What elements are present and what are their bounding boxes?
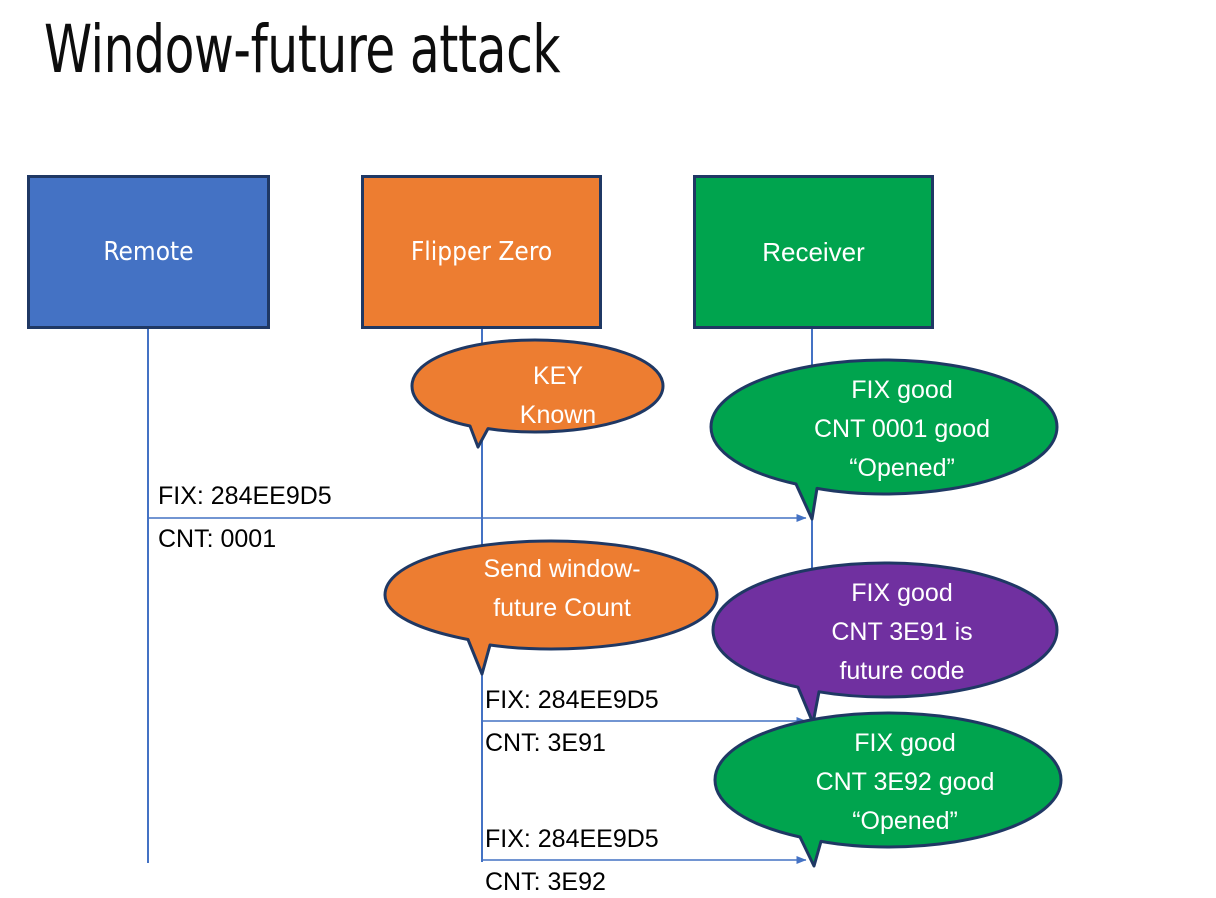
callout-fix-good-3e92[interactable]: FIX good CNT 3E92 good “Opened” (712, 710, 1064, 876)
callout-fix-good-3e91-future-shape (710, 560, 1060, 728)
callout-key-known[interactable]: KEY Known (408, 337, 670, 457)
callout-send-window-future-count-shape (382, 538, 720, 678)
callout-fix-good-3e91-future[interactable]: FIX good CNT 3E91 is future code (710, 560, 1060, 728)
actor-label-remote: Remote (103, 237, 193, 267)
message-1-label-below: CNT: 0001 (158, 524, 276, 554)
message-1-label-above: FIX: 284EE9D5 (158, 481, 332, 511)
message-3-label-below: CNT: 3E92 (485, 867, 606, 897)
slide-canvas: Window-future attack R (0, 0, 1216, 898)
message-3-label-above: FIX: 284EE9D5 (485, 824, 659, 854)
callout-key-known-shape (408, 337, 670, 457)
actor-box-receiver[interactable]: Receiver (693, 175, 934, 329)
callout-fix-good-0001-shape (708, 357, 1060, 523)
callout-send-window-future-count[interactable]: Send window- future Count (382, 538, 720, 678)
message-2-label-below: CNT: 3E91 (485, 728, 606, 758)
callout-fix-good-3e92-shape (712, 710, 1064, 876)
actor-label-flipper: Flipper Zero (411, 237, 552, 267)
actor-box-flipper[interactable]: Flipper Zero (361, 175, 602, 329)
callout-fix-good-0001[interactable]: FIX good CNT 0001 good “Opened” (708, 357, 1060, 523)
actor-label-receiver: Receiver (762, 237, 865, 267)
actor-box-remote[interactable]: Remote (27, 175, 270, 329)
message-2-label-above: FIX: 284EE9D5 (485, 685, 659, 715)
